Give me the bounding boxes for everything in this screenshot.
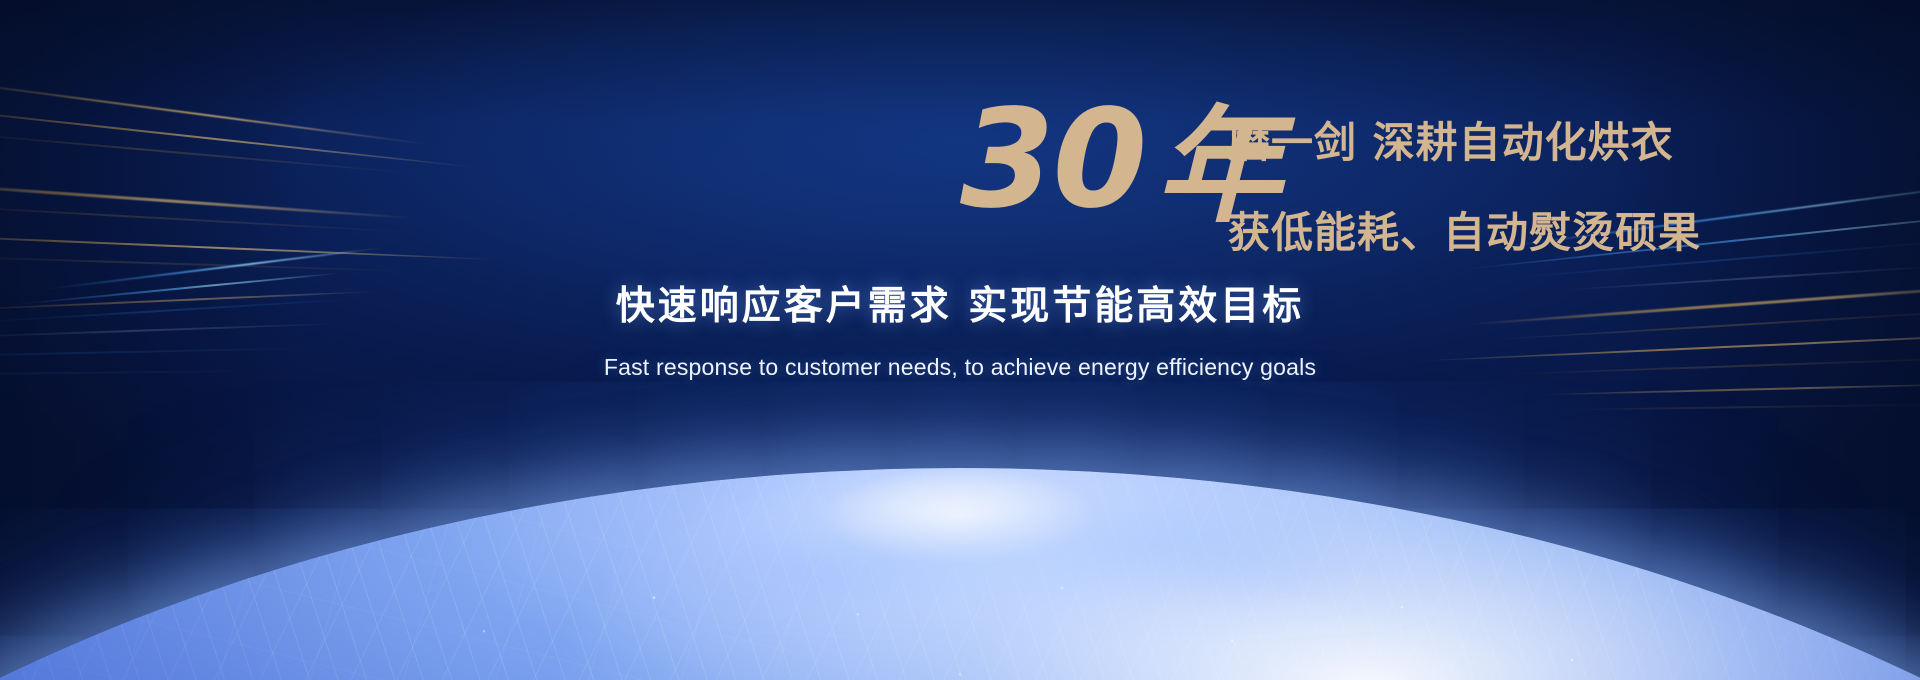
banner-content: 30 年 磨一剑 深耕自动化烘衣 获低能耗、自动熨烫硕果 快速响应客户需求 实现… <box>0 96 1920 381</box>
gold-slogan-line-1: 磨一剑 深耕自动化烘衣 <box>1228 110 1701 176</box>
anniversary-number: 30 <box>960 92 1145 228</box>
earth-horizon <box>0 350 1920 680</box>
hero-banner: 30 年 磨一剑 深耕自动化烘衣 获低能耗、自动熨烫硕果 快速响应客户需求 实现… <box>0 0 1920 680</box>
gold-slogan-line-2: 获低能耗、自动熨烫硕果 <box>1228 200 1701 266</box>
subhead-chinese: 快速响应客户需求 实现节能高效目标 <box>0 283 1920 332</box>
gold-slogan-group: 磨一剑 深耕自动化烘衣 获低能耗、自动熨烫硕果 <box>1228 110 1701 266</box>
earth-atmosphere-rim <box>0 468 1920 680</box>
subhead-english: Fast response to customer needs, to achi… <box>0 354 1920 381</box>
